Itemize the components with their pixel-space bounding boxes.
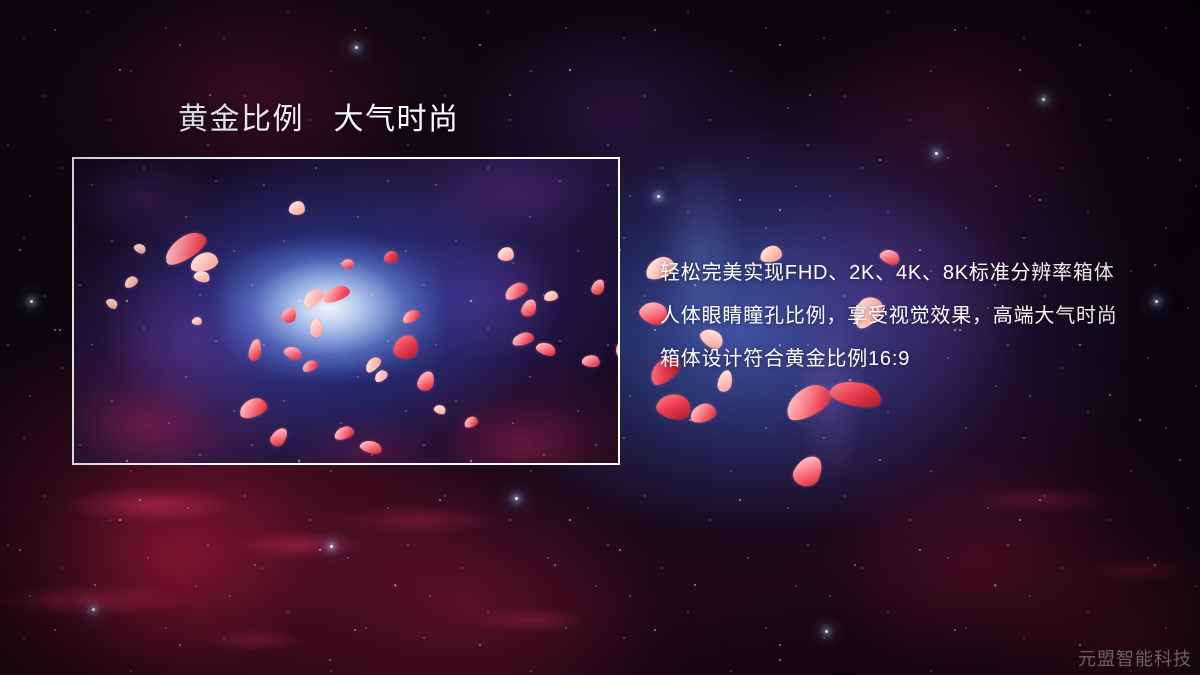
petal-shape	[688, 401, 717, 424]
body-line: 轻松完美实现FHD、2K、4K、8K标准分辨率箱体	[660, 258, 1118, 301]
bright-star-icon	[92, 608, 95, 611]
bright-star-icon	[330, 545, 333, 548]
body-line: 箱体设计符合黄金比例16:9	[660, 344, 1118, 387]
bright-star-icon	[825, 630, 828, 633]
bright-star-icon	[1155, 300, 1158, 303]
petal-shape	[790, 451, 827, 491]
bright-star-icon	[657, 195, 660, 198]
framed-galaxy-image	[72, 157, 620, 465]
bright-star-icon	[515, 497, 518, 500]
petal-shape	[384, 251, 398, 263]
body-text-block: 轻松完美实现FHD、2K、4K、8K标准分辨率箱体 人体眼睛瞳孔比例，享受视觉效…	[660, 258, 1118, 387]
page-title: 黄金比例 大气时尚	[178, 101, 460, 139]
bright-star-icon	[935, 152, 938, 155]
bright-star-icon	[30, 300, 33, 303]
slide-canvas: 黄金比例 大气时尚 轻松完美实现FHD、2K、4K、8K标准分辨率箱体 人体眼睛…	[0, 0, 1200, 675]
bright-star-icon	[1042, 98, 1045, 101]
body-line: 人体眼睛瞳孔比例，享受视觉效果，高端大气时尚	[660, 301, 1118, 344]
petal-shape	[654, 389, 694, 423]
bright-star-icon	[355, 46, 358, 49]
watermark: 元盟智能科技	[1078, 645, 1192, 671]
